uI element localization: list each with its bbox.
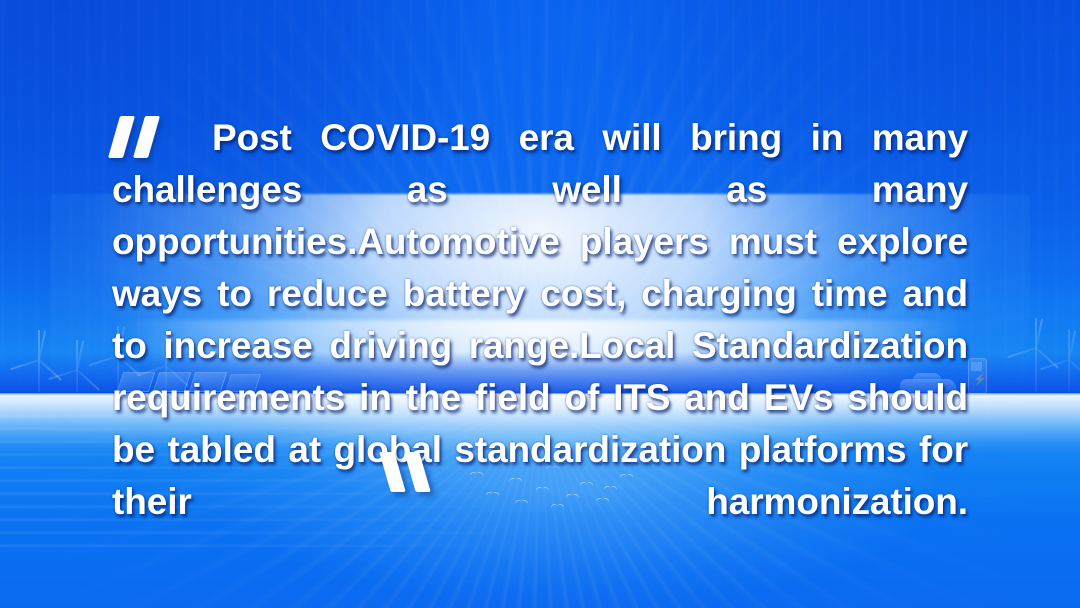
wind-turbine-icon xyxy=(22,330,56,392)
quote-text: Post COVID-19 era will bring in many cha… xyxy=(112,112,968,580)
closing-quote-mark xyxy=(383,452,439,496)
opening-quote-mark xyxy=(112,116,168,160)
quote-slide: ⚡ Post COVID-19 era will bring in many c… xyxy=(0,0,1080,608)
quote-block: Post COVID-19 era will bring in many cha… xyxy=(112,112,968,580)
quote-last-line: harmonization. xyxy=(706,476,968,528)
ev-charging-station-icon: ⚡ xyxy=(968,358,986,394)
wind-turbine-icon xyxy=(1016,318,1056,392)
wind-turbine-icon xyxy=(62,340,92,392)
wind-turbine-icon xyxy=(1052,330,1080,392)
quote-body: Post COVID-19 era will bring in many cha… xyxy=(112,117,968,522)
